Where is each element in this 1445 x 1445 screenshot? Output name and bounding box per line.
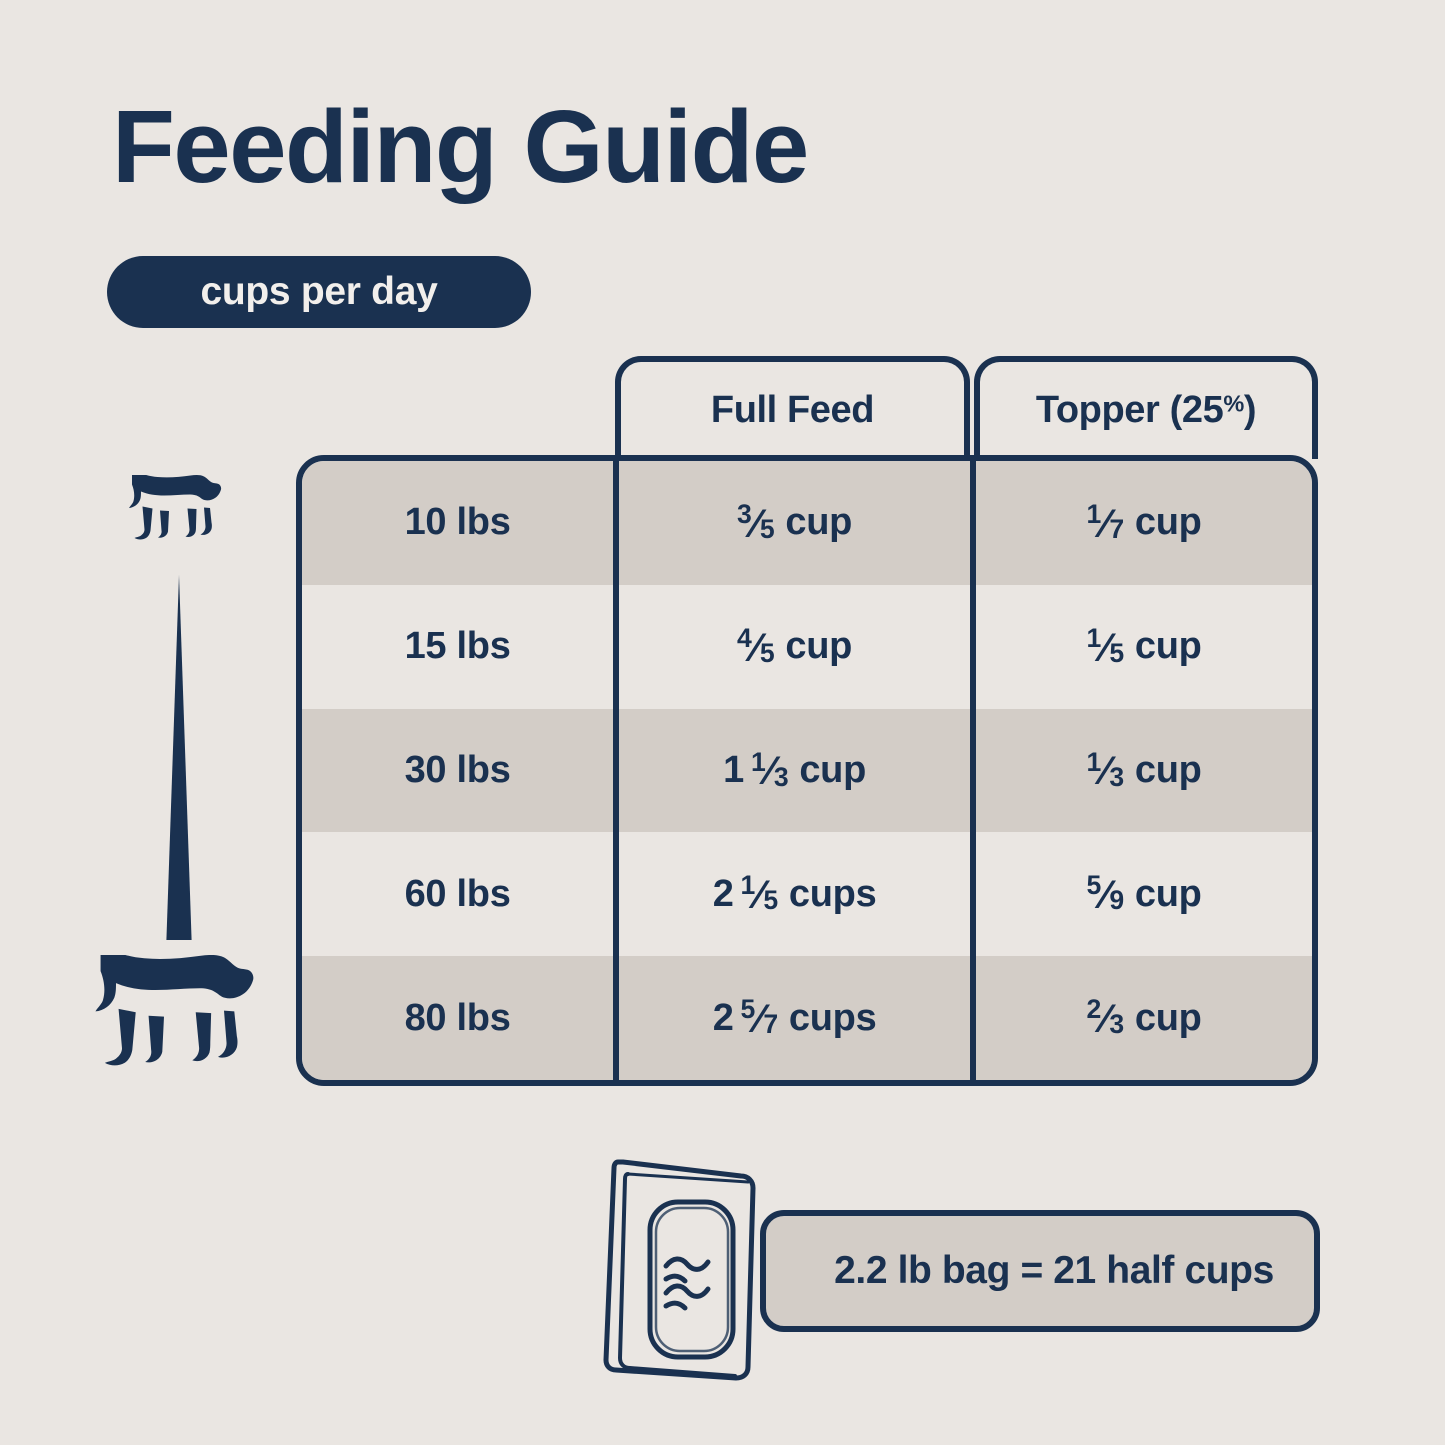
bag-yield-bar: 2.2 lb bag = 21 half cups bbox=[760, 1210, 1320, 1332]
feeding-table: Full Feed Topper (25%) 10 lbs 3⁄5cup 1⁄7… bbox=[296, 356, 1318, 1086]
table-row: 60 lbs 21⁄5cups 5⁄9cup bbox=[302, 832, 1312, 956]
cell-topper: 1⁄3cup bbox=[970, 709, 1312, 833]
table-row: 30 lbs 11⁄3cup 1⁄3cup bbox=[302, 709, 1312, 833]
cell-topper: 2⁄3cup bbox=[970, 956, 1312, 1080]
cell-full-feed: 3⁄5cup bbox=[613, 461, 970, 585]
dog-size-scale bbox=[75, 465, 290, 1095]
column-header-topper: Topper (25%) bbox=[974, 356, 1318, 459]
column-header-topper-label: Topper (25%) bbox=[1036, 389, 1256, 432]
table-row: 15 lbs 4⁄5cup 1⁄5cup bbox=[302, 585, 1312, 709]
cups-per-day-pill: cups per day bbox=[107, 256, 531, 328]
bag-yield-banner: 2.2 lb bag = 21 half cups bbox=[596, 1148, 1320, 1384]
bag-yield-text: 2.2 lb bag = 21 half cups bbox=[834, 1249, 1274, 1293]
cell-weight: 80 lbs bbox=[302, 956, 613, 1080]
feeding-table-body: 10 lbs 3⁄5cup 1⁄7cup 15 lbs 4⁄5cup 1⁄5cu… bbox=[296, 455, 1318, 1086]
column-header-full-feed-label: Full Feed bbox=[711, 389, 874, 432]
cell-weight: 15 lbs bbox=[302, 585, 613, 709]
cell-full-feed: 11⁄3cup bbox=[613, 709, 970, 833]
table-row: 10 lbs 3⁄5cup 1⁄7cup bbox=[302, 461, 1312, 585]
cell-weight: 60 lbs bbox=[302, 832, 613, 956]
cell-full-feed: 4⁄5cup bbox=[613, 585, 970, 709]
large-dog-icon bbox=[80, 955, 260, 1085]
feeding-guide-page: Feeding Guide cups per day bbox=[0, 0, 1445, 1445]
cell-topper: 1⁄5cup bbox=[970, 585, 1312, 709]
table-row: 80 lbs 25⁄7cups 2⁄3cup bbox=[302, 956, 1312, 1080]
column-header-full-feed: Full Feed bbox=[615, 356, 970, 459]
cell-full-feed: 21⁄5cups bbox=[613, 832, 970, 956]
food-bag-icon bbox=[596, 1148, 786, 1384]
cell-weight: 10 lbs bbox=[302, 461, 613, 585]
cell-topper: 1⁄7cup bbox=[970, 461, 1312, 585]
small-dog-icon bbox=[120, 475, 225, 551]
page-title: Feeding Guide bbox=[112, 93, 808, 201]
cell-topper: 5⁄9cup bbox=[970, 832, 1312, 956]
cell-full-feed: 25⁄7cups bbox=[613, 956, 970, 1080]
cell-weight: 30 lbs bbox=[302, 709, 613, 833]
cups-per-day-label: cups per day bbox=[201, 270, 438, 314]
size-wedge-icon bbox=[161, 575, 197, 940]
